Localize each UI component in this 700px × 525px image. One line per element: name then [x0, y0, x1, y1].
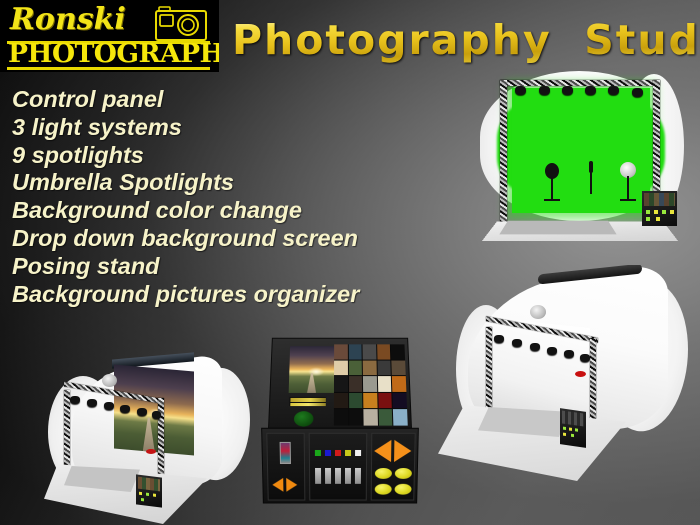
- brand-plate-line-2: [290, 403, 327, 407]
- light-slider[interactable]: [355, 468, 361, 484]
- console-texture-grid: [562, 410, 584, 426]
- texture-swatch[interactable]: [393, 393, 407, 409]
- posing-stand-marker: [575, 371, 586, 377]
- studio-white-image: [420, 265, 700, 525]
- texture-swatch[interactable]: [363, 376, 377, 391]
- texture-swatch[interactable]: [377, 360, 391, 375]
- light-stand-base: [544, 199, 560, 201]
- color-button-white[interactable]: [355, 450, 361, 456]
- list-item: Background color change: [12, 197, 442, 225]
- texture-swatch[interactable]: [393, 410, 407, 426]
- texture-swatch[interactable]: [349, 410, 363, 426]
- spotlight: [515, 86, 526, 95]
- texture-swatch[interactable]: [334, 344, 347, 359]
- truss-left: [64, 390, 70, 474]
- console-button: [646, 210, 650, 214]
- texture-swatch[interactable]: [378, 410, 392, 426]
- panel-section-right: [371, 433, 416, 501]
- console-button: [569, 427, 572, 430]
- spotlight: [87, 399, 97, 407]
- texture-swatch[interactable]: [349, 393, 363, 409]
- texture-swatch[interactable]: [334, 410, 348, 426]
- texture-swatch[interactable]: [377, 344, 391, 359]
- list-item: Control panel: [12, 86, 442, 114]
- list-item: Drop down background screen: [12, 225, 442, 253]
- spotlight: [120, 405, 130, 413]
- greenscreen-backdrop: [512, 88, 650, 213]
- logo-divider-bottom: [7, 67, 210, 70]
- yellow-button[interactable]: [375, 468, 392, 479]
- control-panel-upper-face: [268, 338, 412, 429]
- panel-section-colors: [309, 433, 368, 501]
- studio-backdrop-image: [42, 348, 258, 525]
- light-stand: [627, 176, 629, 200]
- preview-sun: [308, 367, 324, 376]
- texture-swatch[interactable]: [334, 360, 348, 375]
- spotlight: [137, 408, 147, 416]
- console-button: [139, 492, 142, 495]
- texture-swatch[interactable]: [364, 410, 378, 426]
- arrow-right-icon[interactable]: [394, 440, 411, 462]
- spotlight: [530, 343, 540, 351]
- texture-swatch[interactable]: [334, 393, 348, 409]
- console-button: [153, 493, 156, 496]
- console-button: [662, 210, 666, 214]
- console-button: [571, 434, 574, 437]
- studio-control-console: [560, 408, 586, 448]
- brand-plate-line-1: [290, 398, 326, 402]
- texture-swatch[interactable]: [348, 360, 362, 375]
- spotlight: [580, 354, 590, 362]
- preview-road: [307, 373, 316, 393]
- arrow-left-icon[interactable]: [374, 440, 391, 462]
- console-button: [563, 433, 566, 436]
- texture-swatch[interactable]: [348, 344, 361, 359]
- control-panel-image: [256, 332, 422, 525]
- console-button: [646, 217, 650, 221]
- list-item: 3 light systems: [12, 114, 442, 142]
- list-item: Background pictures organizer: [12, 281, 442, 309]
- texture-swatch[interactable]: [349, 376, 363, 391]
- arrow-left-icon[interactable]: [272, 478, 283, 492]
- brand-plate: [288, 396, 327, 407]
- studio-control-console: [642, 191, 677, 226]
- spotlight: [608, 86, 619, 95]
- spotlight: [632, 88, 643, 97]
- posing-stand-marker: [146, 449, 156, 454]
- texture-swatch[interactable]: [363, 360, 377, 375]
- console-texture-grid: [138, 477, 160, 492]
- spotlight: [512, 339, 522, 347]
- arrow-right-icon[interactable]: [286, 478, 297, 492]
- panel-section-left: [266, 433, 305, 501]
- brand-name-script: Ronski: [10, 2, 126, 37]
- color-strip-indicator[interactable]: [280, 442, 291, 464]
- truss-top: [500, 80, 660, 86]
- console-button: [146, 493, 149, 496]
- list-item: Posing stand: [12, 253, 442, 281]
- console-button: [656, 217, 660, 221]
- console-texture-grid: [644, 193, 675, 206]
- color-button-red[interactable]: [335, 450, 341, 456]
- console-button: [563, 427, 566, 430]
- spotlight: [547, 347, 557, 355]
- color-button-green[interactable]: [315, 450, 321, 456]
- texture-swatch[interactable]: [334, 376, 348, 391]
- spotlight: [585, 86, 596, 95]
- light-slider[interactable]: [325, 468, 331, 484]
- power-button[interactable]: [294, 411, 314, 426]
- brand-logo: Ronski PHOTOGRAPHY: [0, 0, 219, 72]
- spotlight: [152, 411, 161, 419]
- truss-left: [500, 80, 507, 222]
- texture-swatch[interactable]: [363, 393, 377, 409]
- backdrop-road: [143, 417, 155, 452]
- brand-name-main: PHOTOGRAPHY: [8, 41, 215, 68]
- texture-swatch[interactable]: [392, 360, 406, 375]
- background-pictures-organizer-grid[interactable]: [334, 344, 408, 425]
- umbrella-spotlight: [530, 305, 546, 319]
- posing-stand-pole: [590, 172, 592, 194]
- camera-icon: [155, 5, 207, 41]
- color-button-blue[interactable]: [325, 450, 331, 456]
- page-title: Photography Studio: [232, 16, 700, 64]
- texture-swatch[interactable]: [378, 376, 392, 391]
- yellow-button[interactable]: [395, 484, 412, 495]
- studio-control-console: [136, 474, 162, 507]
- console-button: [575, 428, 578, 431]
- spotlight: [562, 86, 573, 95]
- spotlight: [564, 350, 574, 358]
- texture-swatch[interactable]: [391, 344, 405, 359]
- texture-swatch[interactable]: [378, 393, 392, 409]
- console-button: [141, 498, 144, 501]
- spotlight: [539, 86, 550, 95]
- list-item: 9 spotlights: [12, 142, 442, 170]
- light-slider[interactable]: [335, 468, 341, 484]
- light-stand: [551, 176, 553, 200]
- studio-greenscreen-image: [462, 66, 698, 262]
- console-button: [654, 210, 658, 214]
- control-panel-lower-face: [261, 428, 419, 504]
- poster-canvas: Ronski PHOTOGRAPHY Photography Studio Co…: [0, 0, 700, 525]
- yellow-button[interactable]: [395, 468, 412, 479]
- light-slider[interactable]: [315, 468, 321, 484]
- feature-list: Control panel 3 light systems 9 spotligh…: [12, 86, 442, 308]
- light-slider[interactable]: [345, 468, 351, 484]
- texture-swatch[interactable]: [363, 344, 377, 359]
- background-preview-screen: [289, 346, 337, 393]
- spotlight: [494, 335, 504, 343]
- console-button: [670, 210, 674, 214]
- texture-swatch[interactable]: [392, 376, 406, 391]
- studio-mat: [499, 221, 616, 235]
- list-item: Umbrella Spotlights: [12, 169, 442, 197]
- color-button-yellow[interactable]: [345, 450, 351, 456]
- umbrella-spotlight: [102, 374, 117, 387]
- spotlight: [104, 402, 114, 410]
- spotlight: [70, 396, 80, 404]
- light-stand-base: [620, 199, 636, 201]
- yellow-button[interactable]: [375, 484, 392, 495]
